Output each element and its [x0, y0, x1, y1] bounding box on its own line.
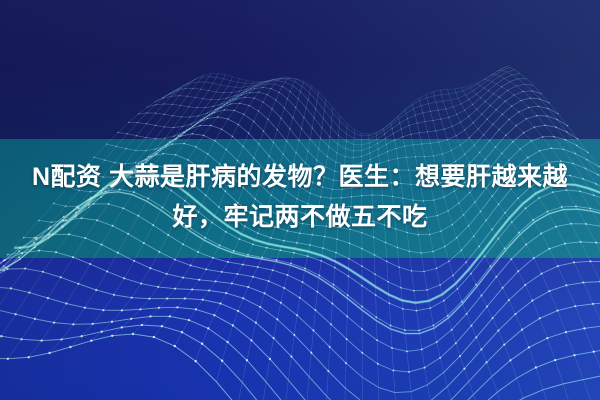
banner-image: N配资 大蒜是肝病的发物？医生：想要肝越来越好，牢记两不做五不吃	[0, 0, 600, 400]
headline-text: N配资 大蒜是肝病的发物？医生：想要肝越来越好，牢记两不做五不吃	[0, 157, 600, 237]
